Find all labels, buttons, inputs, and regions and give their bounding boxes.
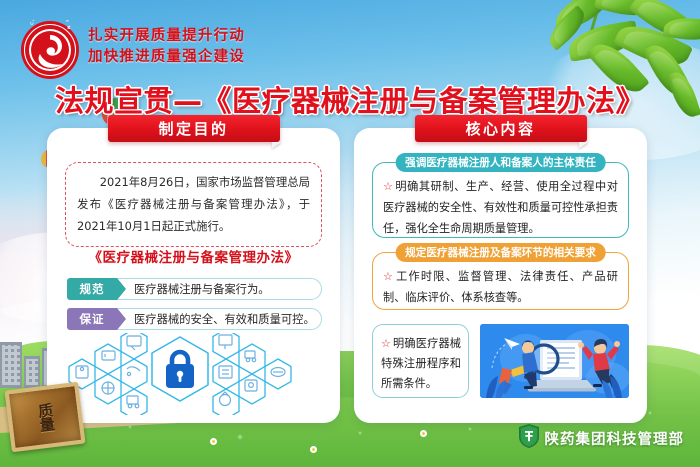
- review-illustration: [480, 324, 629, 398]
- department-footer: 陕药集团科技管理部: [519, 424, 685, 453]
- page-title: 法规宣贯—《医疗器械注册与备案管理办法》: [0, 78, 700, 120]
- core-block-special-procedure: ☆明确医疗器械特殊注册程序和所需条件。: [372, 324, 469, 398]
- core-block-requirements-text: 工作时限、监督管理、法律责任、产品研制、临床评价、体系核查等。: [383, 270, 618, 304]
- core-block-responsibility-text: 明确其研制、生产、经营、使用全过程中对医疗器械的安全性、有效性和质量可控性承担责…: [383, 180, 618, 235]
- purpose-row-guarantee-tag: 保证: [67, 308, 117, 330]
- core-block-responsibility: 强调医疗器械注册人和备案人的主体责任 ☆明确其研制、生产、经营、使用全过程中对医…: [372, 162, 629, 238]
- purpose-row-regulate: 医疗器械注册与备案行为。 规范: [67, 278, 322, 300]
- campaign-slogan: 扎实开展质量提升行动 加快推进质量强企建设: [88, 26, 245, 69]
- purpose-intro-text: 2021年8月26日，国家市场监督管理总局发布《医疗器械注册与备案管理办法》，于…: [77, 172, 310, 238]
- core-block-responsibility-pill: 强调医疗器械注册人和备案人的主体责任: [395, 153, 606, 172]
- slogan-line-1: 扎实开展质量提升行动: [88, 26, 245, 47]
- chinese-seal-stamp: 质量: [4, 382, 85, 453]
- core-block-requirements: 规定医疗器械注册及备案环节的相关要求 ☆工作时限、监督管理、法律责任、产品研制、…: [372, 252, 629, 310]
- core-content-panel-title: 核心内容: [415, 115, 587, 142]
- purpose-panel-title: 制定目的: [108, 115, 280, 142]
- seal-glyph-text: 质量: [4, 382, 85, 453]
- purpose-intro-box: 2021年8月26日，国家市场监督管理总局发布《医疗器械注册与备案管理办法》，于…: [65, 162, 322, 247]
- china-quality-month-logo: CHINA QUALITY MONTH 中国质量月: [20, 20, 80, 80]
- daisy-icon: [310, 446, 317, 453]
- law-name-label: 《医疗器械注册与备案管理办法》: [47, 246, 340, 266]
- core-content-panel: 核心内容 强调医疗器械注册人和备案人的主体责任 ☆明确其研制、生产、经营、使用全…: [354, 128, 647, 423]
- core-block-special-procedure-body: ☆明确医疗器械特殊注册程序和所需条件。: [373, 325, 468, 394]
- star-icon: ☆: [383, 270, 394, 283]
- core-block-special-procedure-text: 明确医疗器械特殊注册程序和所需条件。: [381, 337, 461, 390]
- purpose-panel: 制定目的 2021年8月26日，国家市场监督管理总局发布《医疗器械注册与备案管理…: [47, 128, 340, 423]
- daisy-icon: [210, 438, 217, 445]
- star-icon: ☆: [383, 180, 393, 193]
- department-name: 陕药集团科技管理部: [545, 428, 685, 449]
- core-block-responsibility-body: ☆明确其研制、生产、经营、使用全过程中对医疗器械的安全性、有效性和质量可控性承担…: [373, 163, 628, 239]
- hexagon-icon-cluster: [61, 333, 326, 415]
- core-block-requirements-pill: 规定医疗器械注册及备案环节的相关要求: [395, 243, 606, 262]
- purpose-row-regulate-tag: 规范: [67, 278, 117, 300]
- star-icon: ☆: [381, 337, 391, 350]
- green-shield-icon: [519, 424, 539, 453]
- slogan-line-2: 加快推进质量强企建设: [88, 47, 245, 68]
- poster-canvas: CHINA QUALITY MONTH 中国质量月 扎实开展质量提升行动 加快推…: [0, 0, 700, 467]
- daisy-icon: [420, 430, 427, 437]
- purpose-row-guarantee: 医疗器械的安全、有效和质量可控。 保证: [67, 308, 322, 330]
